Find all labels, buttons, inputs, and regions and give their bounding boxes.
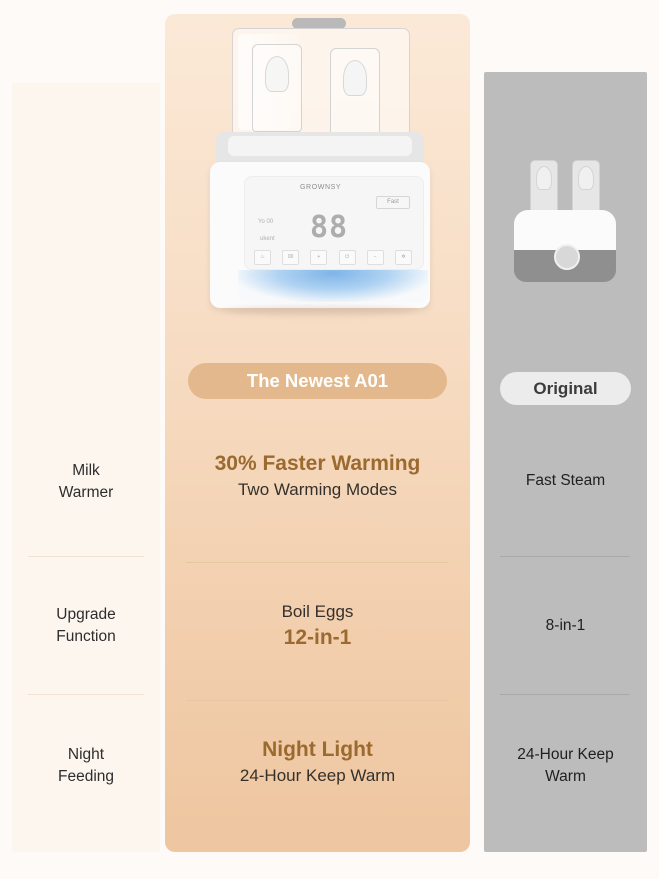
center-row-1-headline: 30% Faster Warming xyxy=(165,450,470,477)
right-label-row-3: 24-Hour Keep Warm xyxy=(484,744,647,788)
display-digits: 88 xyxy=(310,210,348,245)
product-image-a01: GROWNSY Fast 88 Yo 00 ukent ♨ 00 + ⏻ − ✲ xyxy=(190,14,450,334)
alt-nipple-right-icon xyxy=(578,166,594,190)
left-label-row-1: Milk Warmer xyxy=(12,460,160,504)
bottle-nipple-right-icon xyxy=(343,60,367,96)
left-label-row-3-line2: Feeding xyxy=(12,766,160,788)
right-label-row-3-line2: Warm xyxy=(484,766,647,788)
center-divider-1 xyxy=(186,562,448,563)
center-row-3: Night Light 24-Hour Keep Warm xyxy=(165,736,470,788)
left-label-row-1-line2: Warmer xyxy=(12,482,160,504)
center-row-1: 30% Faster Warming Two Warming Modes xyxy=(165,450,470,502)
left-label-row-2: Upgrade Function xyxy=(12,604,160,648)
control-button-plus[interactable]: + xyxy=(310,250,327,265)
right-label-row-2-line1: 8-in-1 xyxy=(484,615,647,637)
right-label-row-1: Fast Steam xyxy=(484,470,647,492)
center-row-3-sub: 24-Hour Keep Warm xyxy=(165,763,470,788)
left-divider-2 xyxy=(28,694,144,695)
bottle-nipple-left-icon xyxy=(265,56,289,92)
right-divider-2 xyxy=(500,694,630,695)
product-shadow xyxy=(224,306,416,316)
center-row-3-headline: Night Light xyxy=(165,736,470,763)
fast-mode-indicator: Fast xyxy=(376,196,410,209)
control-button-power[interactable]: ⏻ xyxy=(339,250,356,265)
badge-newest-a01: The Newest A01 xyxy=(188,363,447,399)
night-light-glow xyxy=(238,270,428,302)
center-row-2-headline: 12-in-1 xyxy=(165,624,470,651)
control-button-minus[interactable]: − xyxy=(367,250,384,265)
product-image-original xyxy=(500,150,630,300)
display-small-label-1: Yo 00 xyxy=(258,219,273,225)
left-label-row-3: Night Feeding xyxy=(12,744,160,788)
left-label-row-1-line1: Milk xyxy=(12,460,160,482)
alt-nipple-left-icon xyxy=(536,166,552,190)
right-divider-1 xyxy=(500,556,630,557)
warming-tray-inner xyxy=(228,136,412,156)
center-row-2-sub: Boil Eggs xyxy=(165,600,470,624)
center-row-2: Boil Eggs 12-in-1 xyxy=(165,600,470,651)
control-button-steam[interactable]: ♨ xyxy=(254,250,271,265)
alt-control-knob xyxy=(554,244,580,270)
center-row-1-sub: Two Warming Modes xyxy=(165,477,470,502)
control-button-timer[interactable]: 00 xyxy=(282,250,299,265)
display-small-label-2: ukent xyxy=(260,236,275,242)
left-label-row-3-line1: Night xyxy=(12,744,160,766)
right-label-row-3-line1: 24-Hour Keep xyxy=(484,744,647,766)
control-button-row[interactable]: ♨ 00 + ⏻ − ✲ xyxy=(254,250,412,264)
center-divider-2 xyxy=(186,700,448,701)
control-button-light[interactable]: ✲ xyxy=(395,250,412,265)
right-label-row-2: 8-in-1 xyxy=(484,615,647,637)
badge-original: Original xyxy=(500,372,631,405)
right-label-row-1-line1: Fast Steam xyxy=(484,470,647,492)
left-label-row-2-line2: Function xyxy=(12,626,160,648)
brand-logo: GROWNSY xyxy=(300,184,341,191)
left-label-row-2-line1: Upgrade xyxy=(12,604,160,626)
left-divider-1 xyxy=(28,556,144,557)
